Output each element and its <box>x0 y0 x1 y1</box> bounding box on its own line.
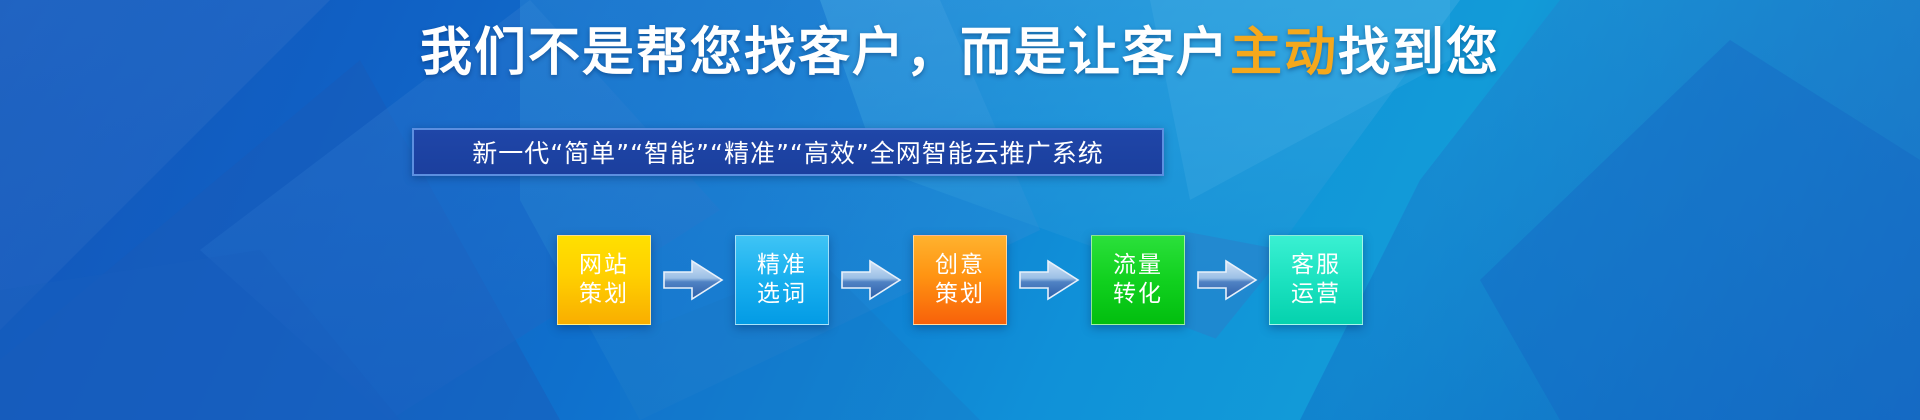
banner-subtitle-bar: 新一代“简单”“智能”“精准”“高效”全网智能云推广系统 <box>412 128 1164 176</box>
chevron-right-icon <box>839 257 903 303</box>
flow-step-label-line2: 转化 <box>1113 280 1163 309</box>
flow-step-website-planning[interactable]: 网站 策划 <box>557 235 651 325</box>
flow-step-label-line1: 客服 <box>1291 251 1341 280</box>
headline-text-lead: 我们不是帮您找客户，而是让客户 <box>420 24 1230 82</box>
banner-headline: 我们不是帮您找客户，而是让客户主动找到您 <box>0 22 1920 84</box>
banner-subtitle-text: 新一代“简单”“智能”“精准”“高效”全网智能云推广系统 <box>472 134 1104 170</box>
flow-step-keyword-selection[interactable]: 精准 选词 <box>735 235 829 325</box>
flow-step-label-line1: 流量 <box>1113 251 1163 280</box>
headline-text-accent: 主动 <box>1230 24 1338 82</box>
chevron-right-icon <box>661 257 725 303</box>
headline-text-tail: 找到您 <box>1338 24 1500 82</box>
flow-step-label-line2: 运营 <box>1291 280 1341 309</box>
flow-step-label-line2: 策划 <box>935 280 985 309</box>
chevron-right-icon <box>1017 257 1081 303</box>
flow-step-label-line2: 策划 <box>579 280 629 309</box>
flow-step-traffic-conversion[interactable]: 流量 转化 <box>1091 235 1185 325</box>
flow-step-creative-planning[interactable]: 创意 策划 <box>913 235 1007 325</box>
flow-step-customer-service[interactable]: 客服 运营 <box>1269 235 1363 325</box>
flow-step-label-line1: 创意 <box>935 251 985 280</box>
process-flow: 网站 策划 精准 选词 创意 <box>0 225 1920 335</box>
flow-step-label-line2: 选词 <box>757 280 807 309</box>
chevron-right-icon <box>1195 257 1259 303</box>
flow-step-label-line1: 网站 <box>579 251 629 280</box>
promo-banner: 我们不是帮您找客户，而是让客户主动找到您 新一代“简单”“智能”“精准”“高效”… <box>0 0 1920 420</box>
flow-step-label-line1: 精准 <box>757 251 807 280</box>
